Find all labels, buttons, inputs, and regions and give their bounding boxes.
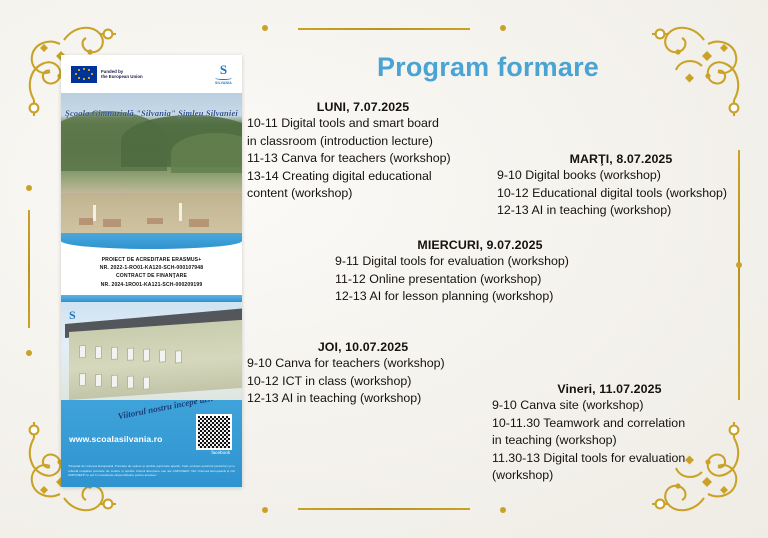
border-line-bottom bbox=[298, 508, 470, 510]
session-line: 9-10 Canva for teachers (workshop) bbox=[247, 355, 479, 373]
session-line: 10-11.30 Teamwork and correlation bbox=[492, 415, 727, 433]
session-line: 10-11 Digital tools and smart board bbox=[247, 115, 479, 133]
flyer-school-building-photo: S bbox=[61, 302, 242, 400]
border-dot bbox=[26, 185, 32, 191]
session-line: 9-10 Digital books (workshop) bbox=[497, 167, 745, 185]
qr-code-label: facebook bbox=[211, 450, 230, 455]
flyer-website-url: www.scoalasilvania.ro bbox=[69, 434, 163, 444]
day-sessions: 9-10 Digital books (workshop) 10-12 Educ… bbox=[497, 167, 745, 220]
day-sessions: 10-11 Digital tools and smart board in c… bbox=[247, 115, 479, 203]
school-logo-letter: S bbox=[220, 64, 227, 76]
flyer-blue-divider bbox=[61, 233, 242, 249]
flyer-project-info: PROIECT DE ACREDITARE ERASMUS+ NR. 2022-… bbox=[61, 249, 242, 295]
session-line: 11.30-13 Digital tools for evaluation bbox=[492, 450, 727, 468]
flyer-blue-separator bbox=[61, 295, 242, 302]
border-dot bbox=[500, 25, 506, 31]
flyer-landscape-photo: Şcoala Gimnazială "Silvania" Şimleu Silv… bbox=[61, 93, 242, 233]
flyer-disclaimer: "Finanțat de Uniunea Europeană. Punctele… bbox=[68, 464, 235, 477]
flyer-school-name: Şcoala Gimnazială "Silvania" Şimleu Silv… bbox=[61, 109, 242, 118]
session-line: 12-13 AI in teaching (workshop) bbox=[247, 390, 479, 408]
project-line: NR. 2024-1RO01-KA121-SCH-000209199 bbox=[67, 281, 236, 289]
day-block-joi: JOI, 10.07.2025 9-10 Canva for teachers … bbox=[247, 340, 479, 408]
poster-canvas: Funded by the European Union S SILVANIA … bbox=[0, 0, 768, 538]
school-logo: S SILVANIA bbox=[215, 64, 232, 85]
day-heading: LUNI, 7.07.2025 bbox=[247, 100, 479, 114]
day-block-marti: MARŢI, 8.07.2025 9-10 Digital books (wor… bbox=[497, 152, 745, 220]
session-line: 13-14 Creating digital educational bbox=[247, 168, 479, 186]
building-watermark-logo: S bbox=[69, 308, 76, 323]
session-line: in teaching (workshop) bbox=[492, 432, 727, 450]
session-line: 11-12 Online presentation (workshop) bbox=[335, 271, 625, 289]
school-logo-wave-icon bbox=[215, 76, 232, 80]
border-dot bbox=[26, 350, 32, 356]
eu-funding-label: Funded by the European Union bbox=[101, 69, 143, 80]
project-line: CONTRACT DE FINANŢARE bbox=[67, 272, 236, 280]
day-block-miercuri: MIERCURI, 9.07.2025 9-11 Digital tools f… bbox=[335, 238, 625, 306]
day-heading: MIERCURI, 9.07.2025 bbox=[335, 238, 625, 252]
project-line: NR. 2022-1-RO01-KA120-SCH-000107948 bbox=[67, 264, 236, 272]
border-dot bbox=[736, 262, 742, 268]
flyer-header: Funded by the European Union S SILVANIA bbox=[61, 55, 242, 93]
eu-flag-icon bbox=[71, 66, 97, 83]
school-logo-banner: SILVANIA bbox=[215, 81, 232, 85]
session-line: 12-13 AI for lesson planning (workshop) bbox=[335, 288, 625, 306]
day-sessions: 9-10 Canva for teachers (workshop) 10-12… bbox=[247, 355, 479, 408]
session-line: 10-12 Educational digital tools (worksho… bbox=[497, 185, 745, 203]
day-heading: Vineri, 11.07.2025 bbox=[492, 382, 727, 396]
border-dot bbox=[262, 25, 268, 31]
day-block-vineri: Vineri, 11.07.2025 9-10 Canva site (work… bbox=[492, 382, 727, 485]
session-line: 12-13 AI in teaching (workshop) bbox=[497, 202, 745, 220]
page-title: Program formare bbox=[258, 52, 718, 83]
project-line: PROIECT DE ACREDITARE ERASMUS+ bbox=[67, 256, 236, 264]
day-sessions: 9-11 Digital tools for evaluation (works… bbox=[335, 253, 625, 306]
border-dot bbox=[500, 507, 506, 513]
day-sessions: 9-10 Canva site (workshop) 10-11.30 Team… bbox=[492, 397, 727, 485]
border-line-left bbox=[28, 210, 30, 328]
qr-code-icon[interactable] bbox=[196, 414, 232, 450]
session-line: 9-11 Digital tools for evaluation (works… bbox=[335, 253, 625, 271]
session-line: in classroom (introduction lecture) bbox=[247, 133, 479, 151]
eu-funding-logo: Funded by the European Union bbox=[71, 66, 143, 83]
session-line: (workshop) bbox=[492, 467, 727, 485]
border-line-top bbox=[298, 28, 470, 30]
day-heading: MARŢI, 8.07.2025 bbox=[497, 152, 745, 166]
session-line: content (workshop) bbox=[247, 185, 479, 203]
session-line: 10-12 ICT in class (workshop) bbox=[247, 373, 479, 391]
session-line: 11-13 Canva for teachers (workshop) bbox=[247, 150, 479, 168]
day-heading: JOI, 10.07.2025 bbox=[247, 340, 479, 354]
day-block-luni: LUNI, 7.07.2025 10-11 Digital tools and … bbox=[247, 100, 479, 203]
flyer-footer: Viitorul nostru începe azi! www.scoalasi… bbox=[61, 400, 242, 487]
school-flyer-image: Funded by the European Union S SILVANIA … bbox=[61, 55, 242, 487]
session-line: 9-10 Canva site (workshop) bbox=[492, 397, 727, 415]
border-dot bbox=[262, 507, 268, 513]
